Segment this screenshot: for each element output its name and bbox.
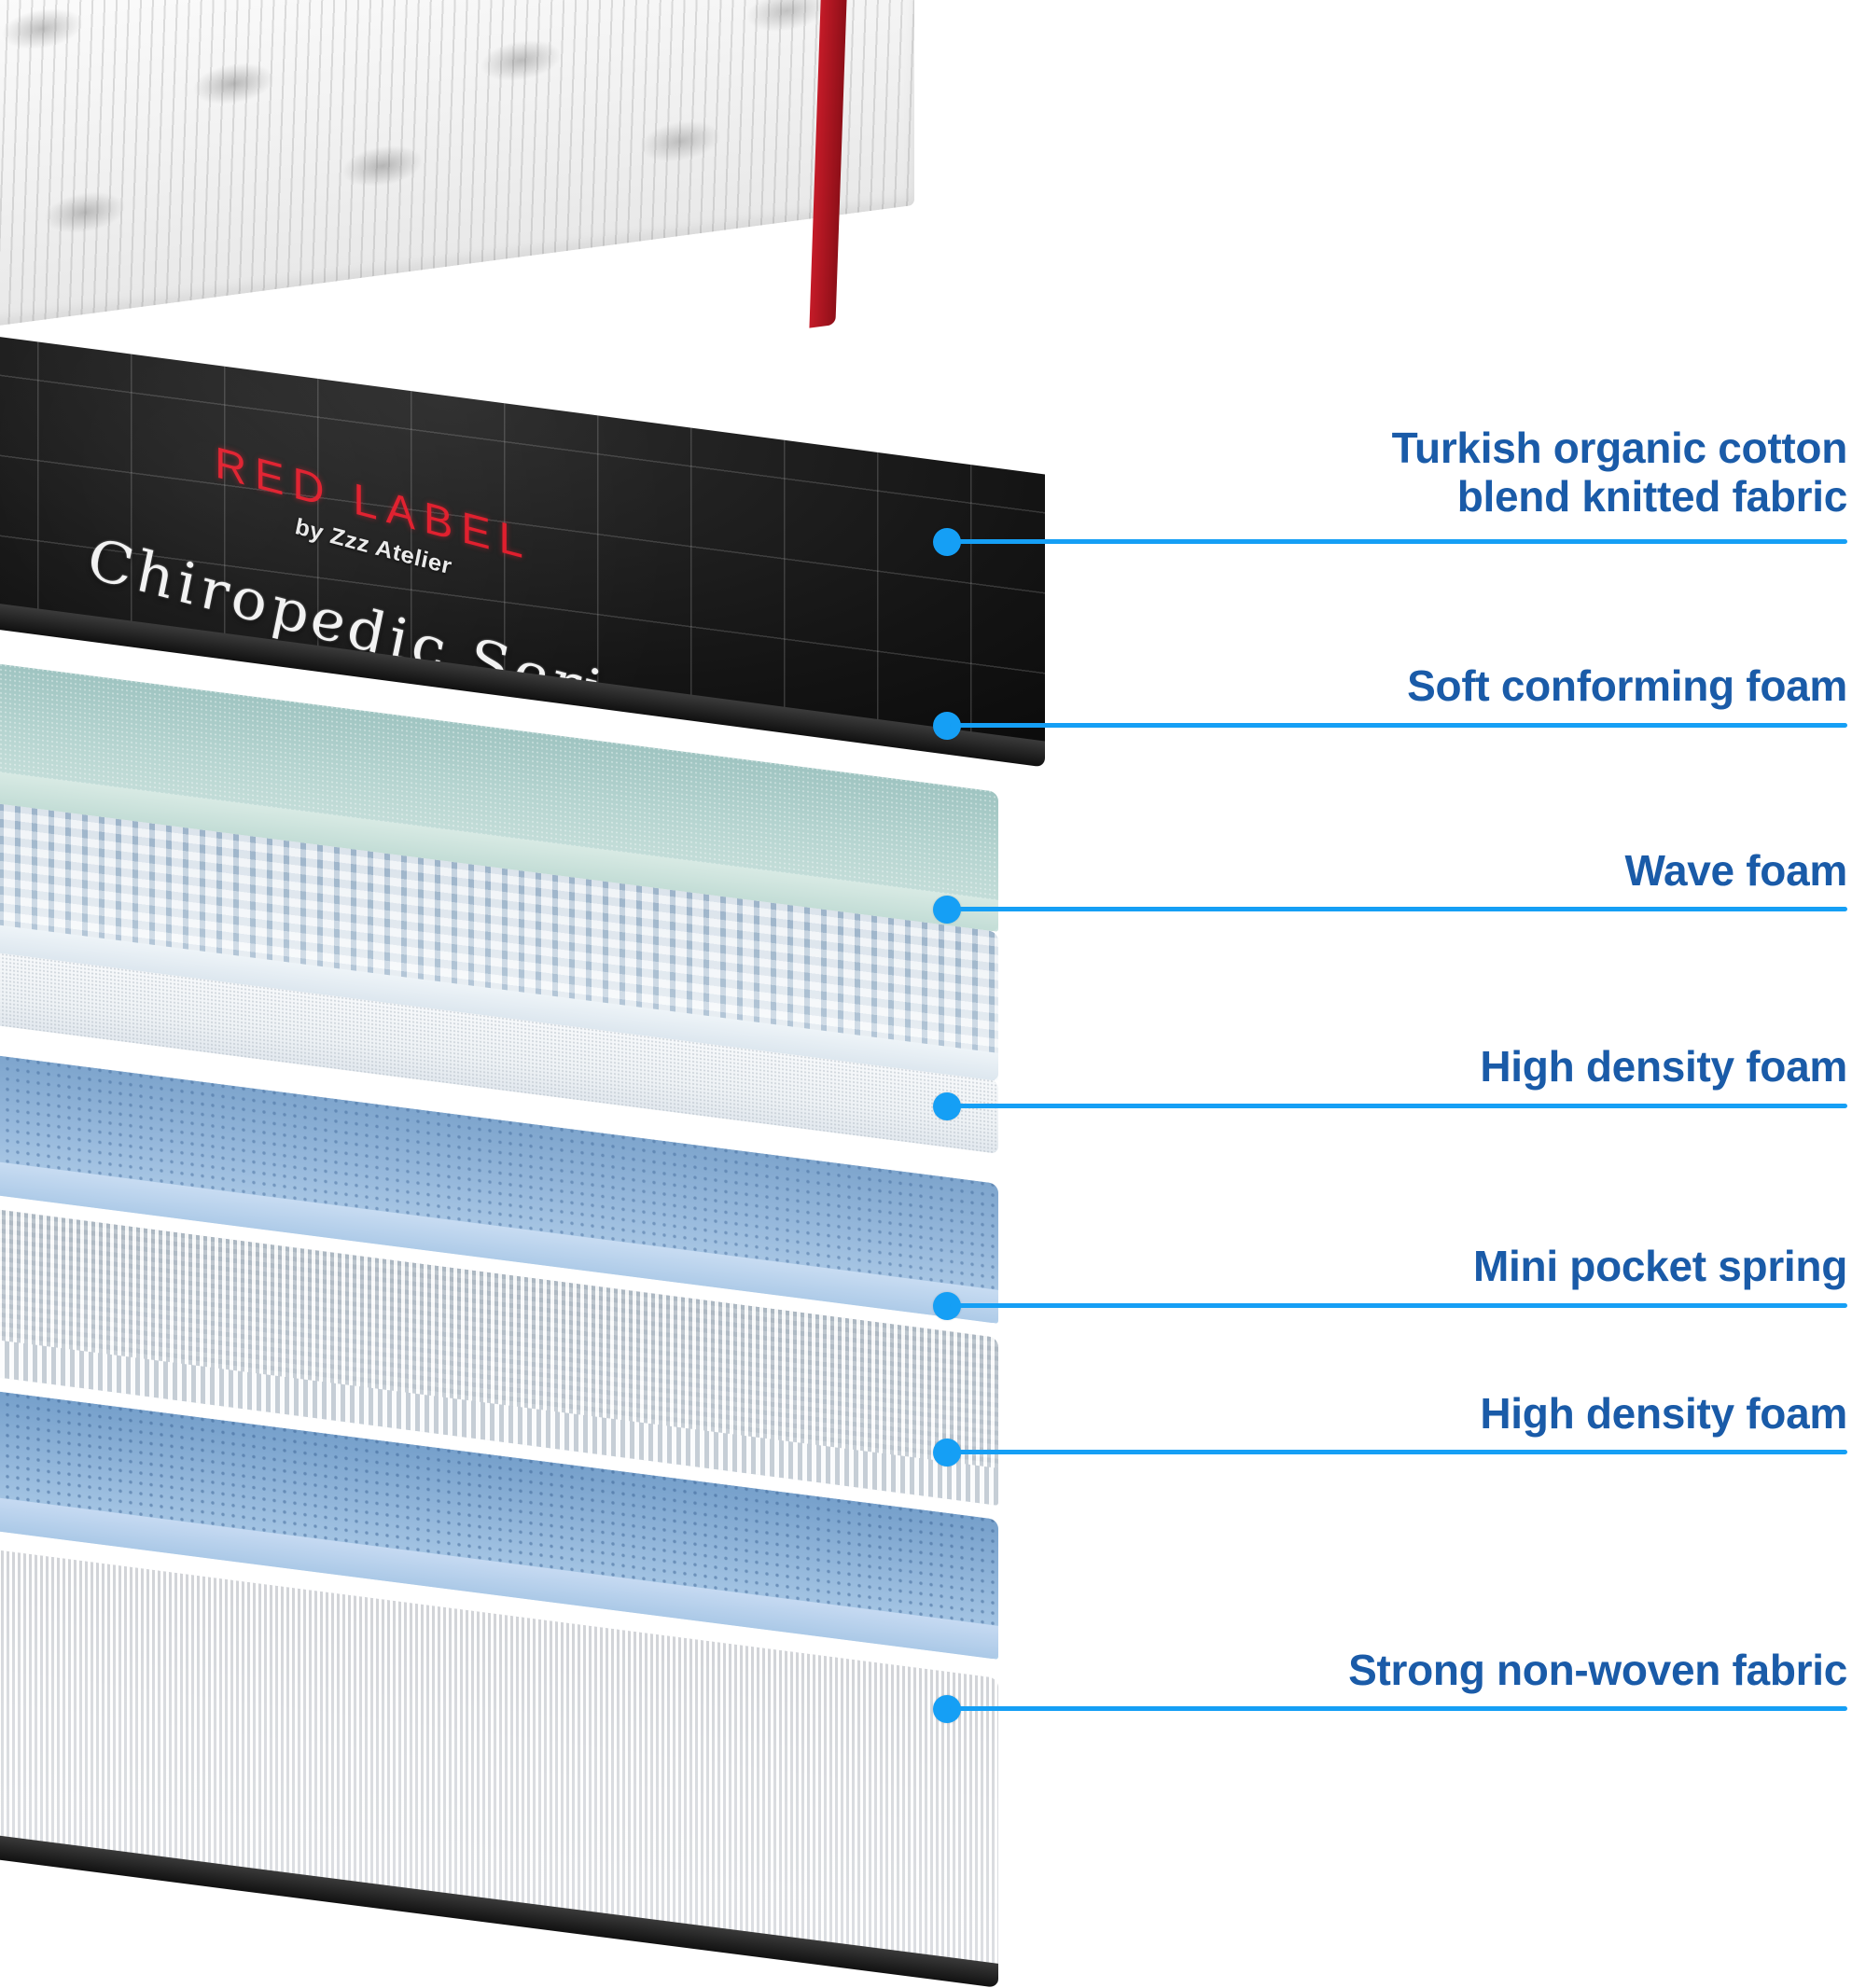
callout-label-strong-non-woven-fabric: Strong non-woven fabric [942,1647,1847,1695]
callout-line-soft-conforming-foam [950,723,1847,728]
callout-line-mini-pocket-spring [950,1303,1847,1308]
callout-line-high-density-foam-lower [950,1450,1847,1454]
brand-byline: by Zzz Atelier [75,455,672,640]
brand-lockup: RED LABEL by Zzz Atelier [75,403,672,640]
callout-label-mini-pocket-spring: Mini pocket spring [989,1243,1847,1291]
callout-label-high-density-foam-upper: High density foam [989,1043,1847,1091]
callout-label-turkish-cotton: Turkish organic cotton blend knitted fab… [989,424,1847,521]
callout-label-wave-foam: Wave foam [989,847,1847,896]
callout-label-high-density-foam-lower: High density foam [989,1390,1847,1439]
mattress-layer-diagram: RED LABEL by Zzz Atelier Chiropedic Seri… [0,0,1866,1866]
callout-line-wave-foam [950,907,1847,911]
quilted-cover-top [0,0,914,345]
callout-line-high-density-foam-upper [950,1104,1847,1108]
brand-name-red-label: RED LABEL [75,403,672,605]
callout-label-soft-conforming-foam: Soft conforming foam [989,662,1847,711]
callout-line-turkish-cotton [950,539,1847,544]
callout-line-strong-non-woven-fabric [950,1706,1847,1711]
